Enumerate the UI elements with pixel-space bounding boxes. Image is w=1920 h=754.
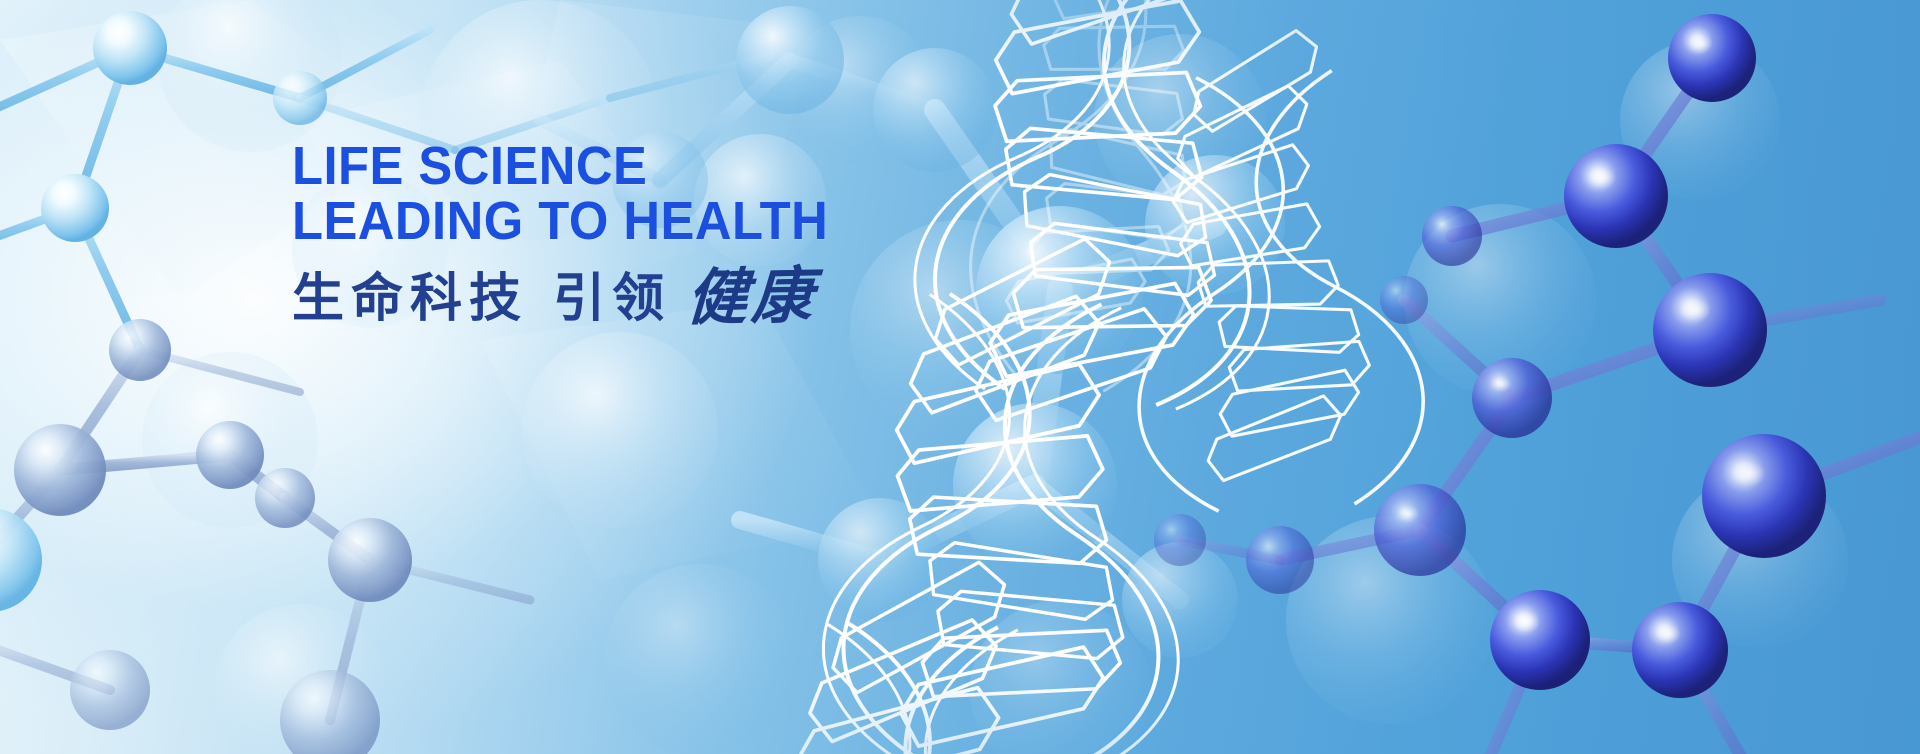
subheading-brush: 健康 [685, 267, 818, 328]
edge-vignette [0, 0, 1920, 754]
molecule-lattice-left [0, 0, 1920, 754]
subheading-main: 生命科技 引领 [292, 270, 671, 328]
molecule-lattice-mid [0, 0, 1920, 754]
headline-copy-block: LIFE SCIENCE LEADING TO HEALTH 生命科技 引领 健… [292, 139, 863, 328]
life-science-banner: LIFE SCIENCE LEADING TO HEALTH 生命科技 引领 健… [0, 0, 1920, 754]
atom-sphere-group-left [0, 11, 412, 754]
dna-double-helix [700, 0, 1520, 754]
molecular-bond-group-right [1180, 58, 1920, 754]
subheading-chinese: 生命科技 引领 健康 [292, 270, 863, 328]
molecular-bond-group-left [0, 30, 770, 720]
helix-strands [790, 0, 1429, 754]
headline-line-2: LEADING TO HEALTH [292, 194, 828, 249]
headline-line-1: LIFE SCIENCE [292, 136, 647, 196]
page-title: LIFE SCIENCE LEADING TO HEALTH [292, 139, 828, 249]
background-ghost-spheres [0, 0, 1920, 754]
molecule-lattice-right [0, 0, 1920, 754]
atom-sphere-group-right [1154, 14, 1826, 698]
